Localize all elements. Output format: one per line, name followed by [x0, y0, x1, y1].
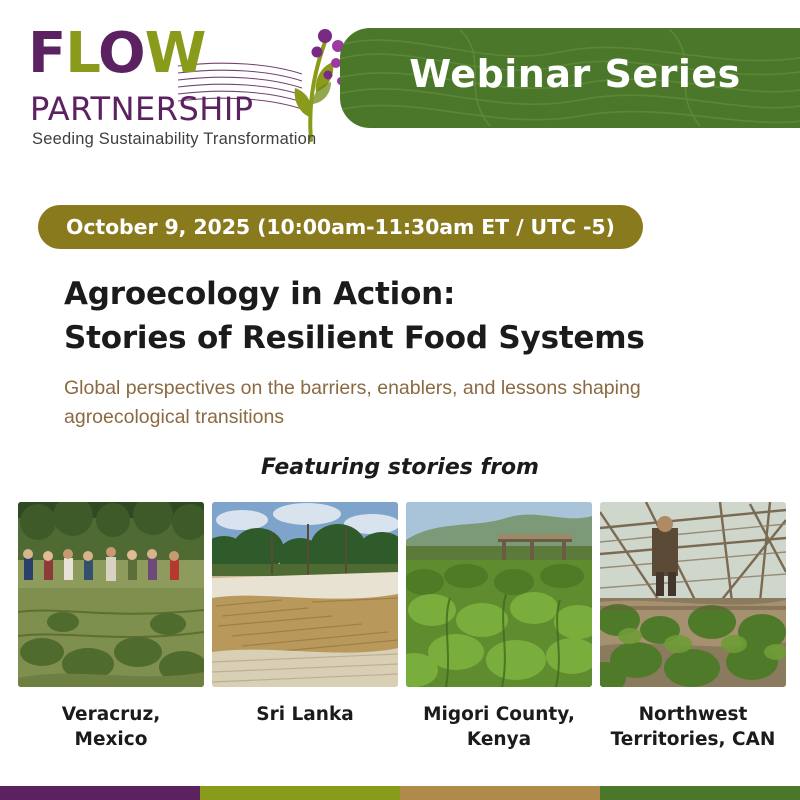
logo-partnership-word: PARTNERSHIP [30, 90, 254, 128]
flow-partnership-logo: FLOW PARTNERSHIP Seeding Sustainability … [26, 18, 346, 153]
bottom-bar-segment-tan [400, 786, 600, 800]
header: FLOW PARTNERSHIP Seeding Sustainability … [0, 0, 800, 168]
event-title-line-1: Agroecology in Action: [64, 272, 774, 316]
bottom-color-bar [0, 786, 800, 800]
bottom-bar-segment-green [600, 786, 800, 800]
event-title-line-2: Stories of Resilient Food Systems [64, 316, 774, 360]
location-card: Northwest Territories, CAN [600, 502, 786, 753]
event-title-block: Agroecology in Action: Stories of Resili… [64, 272, 774, 432]
location-photo-sri-lanka [212, 502, 398, 687]
location-card: Sri Lanka [212, 502, 398, 753]
location-card: Veracruz, Mexico [18, 502, 204, 753]
bottom-bar-segment-purple [0, 786, 200, 800]
webinar-series-banner: Webinar Series [340, 28, 800, 128]
location-caption-line-1: Northwest [600, 703, 786, 728]
drying-crops-photo-icon [212, 502, 398, 687]
event-subtitle-line-2: agroecological transitions [64, 403, 774, 432]
banner-title: Webinar Series [340, 52, 800, 96]
location-caption-line-1: Veracruz, [18, 703, 204, 728]
location-caption-line-2: Kenya [406, 728, 592, 753]
event-subtitle: Global perspectives on the barriers, ena… [64, 374, 774, 432]
event-date-badge: October 9, 2025 (10:00am-11:30am ET / UT… [38, 205, 643, 249]
location-caption: Veracruz, Mexico [18, 703, 204, 753]
location-photo-migori [406, 502, 592, 687]
location-caption: Migori County, Kenya [406, 703, 592, 753]
event-date-text: October 9, 2025 (10:00am-11:30am ET / UT… [66, 215, 615, 239]
location-caption: Sri Lanka [212, 703, 398, 728]
featuring-heading: Featuring stories from [0, 455, 800, 480]
location-caption: Northwest Territories, CAN [600, 703, 786, 753]
location-photo-veracruz [18, 502, 204, 687]
logo-tagline: Seeding Sustainability Transformation [32, 130, 316, 149]
location-card: Migori County, Kenya [406, 502, 592, 753]
location-caption-line-2: Mexico [18, 728, 204, 753]
bottom-bar-segment-olive [200, 786, 400, 800]
location-caption-line-1: Sri Lanka [212, 703, 398, 728]
location-caption-line-2: Territories, CAN [600, 728, 786, 753]
event-subtitle-line-1: Global perspectives on the barriers, ena… [64, 374, 774, 403]
greenhouse-interior-photo-icon [600, 502, 786, 687]
featured-locations-row: Veracruz, Mexico [18, 502, 782, 753]
location-photo-northwest-territories [600, 502, 786, 687]
logo-wordmark: FLOW [28, 26, 205, 82]
green-crop-field-photo-icon [406, 502, 592, 687]
farmers-in-field-photo-icon [18, 502, 204, 687]
location-caption-line-1: Migori County, [406, 703, 592, 728]
